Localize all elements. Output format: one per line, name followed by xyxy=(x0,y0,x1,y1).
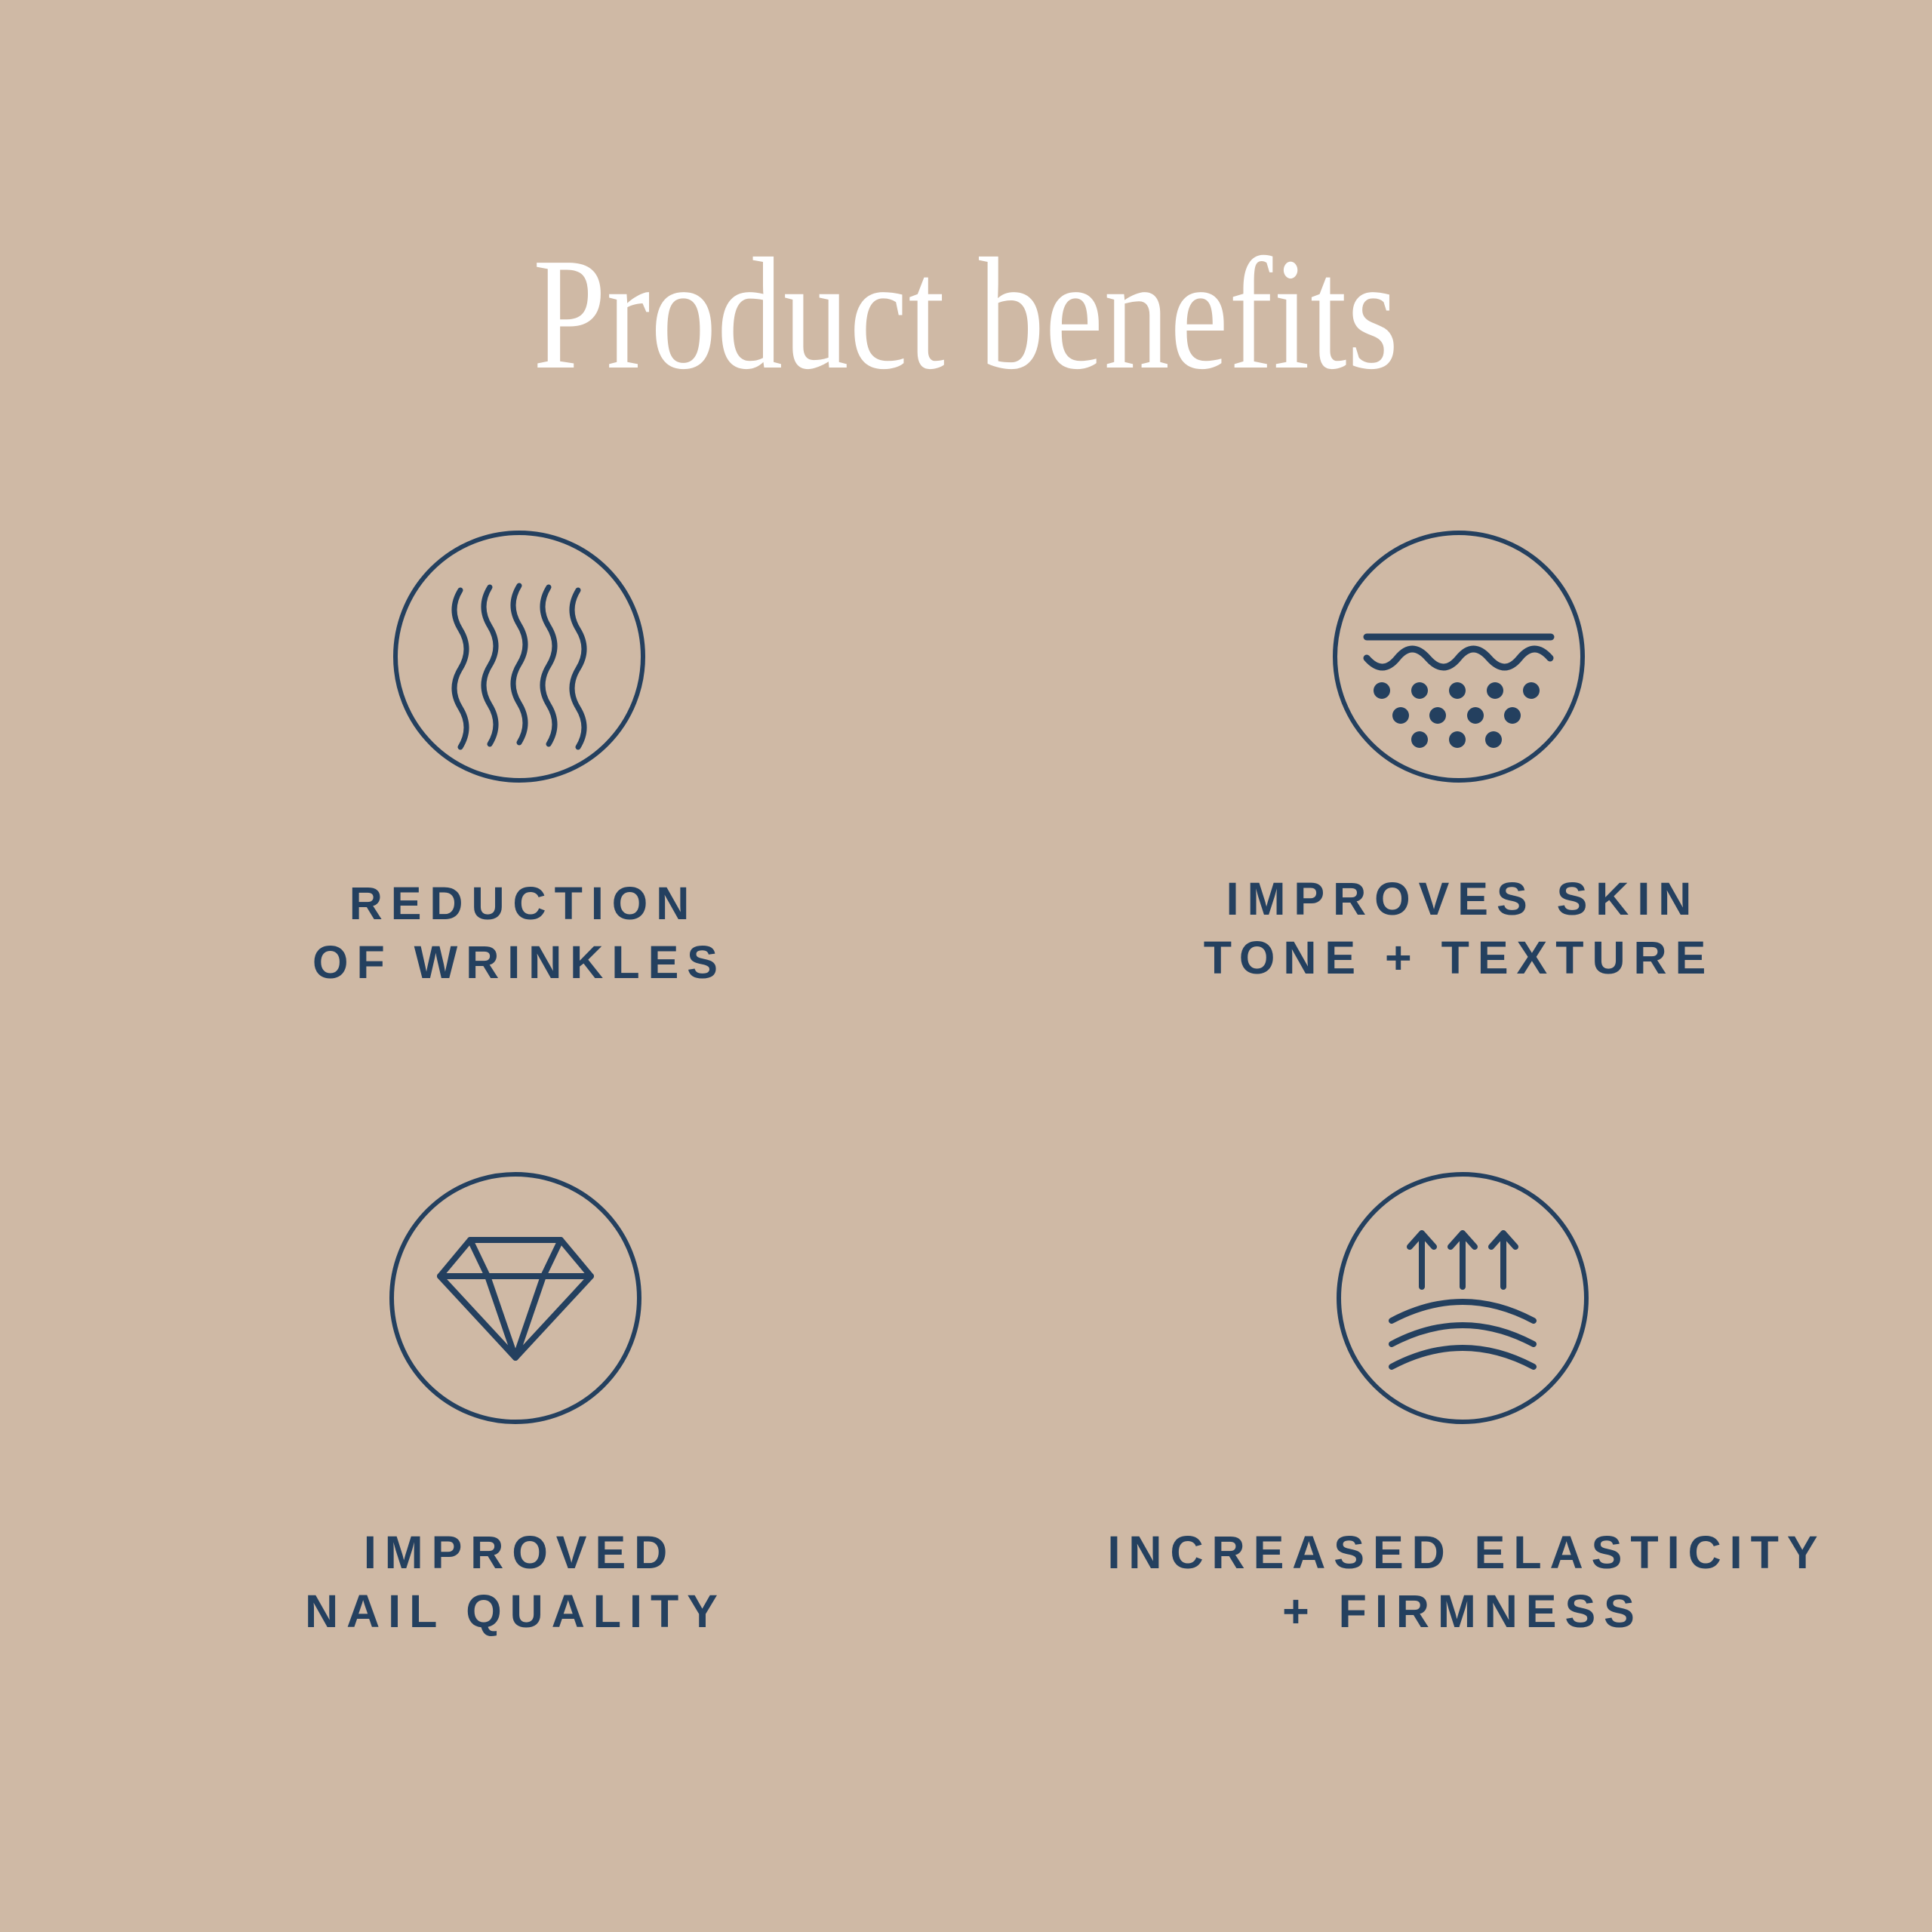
benefit-item-improves-skin-tone-texture: IMPROVES SKIN TONE + TEXTURE xyxy=(966,528,1932,1170)
benefit-label: INCREASED ELASTICITY + FIRMNESS xyxy=(1099,1523,1826,1641)
skin-layers-dots-icon xyxy=(1331,528,1587,785)
benefit-item-improved-nail-quality: IMPROVED NAIL QUALITY xyxy=(0,1170,966,1811)
benefit-label: IMPROVED NAIL QUALITY xyxy=(305,1523,726,1641)
benefit-item-reduction-of-wrinkles: REDUCTION OF WRINKLES xyxy=(0,528,966,1170)
benefits-grid: REDUCTION OF WRINKLES xyxy=(0,528,1932,1811)
lifting-arrows-icon xyxy=(1334,1170,1591,1426)
page-title: Product benefits xyxy=(174,234,1758,394)
wrinkle-lines-icon xyxy=(391,528,648,785)
product-benefits-poster: Product benefits REDUCTION OF WRINKLES xyxy=(0,0,1932,1932)
benefit-label: IMPROVES SKIN TONE + TEXTURE xyxy=(1204,869,1715,987)
diamond-icon xyxy=(387,1170,644,1426)
benefit-label: REDUCTION OF WRINKLES xyxy=(312,874,726,992)
benefit-item-increased-elasticity-firmness: INCREASED ELASTICITY + FIRMNESS xyxy=(966,1170,1932,1811)
